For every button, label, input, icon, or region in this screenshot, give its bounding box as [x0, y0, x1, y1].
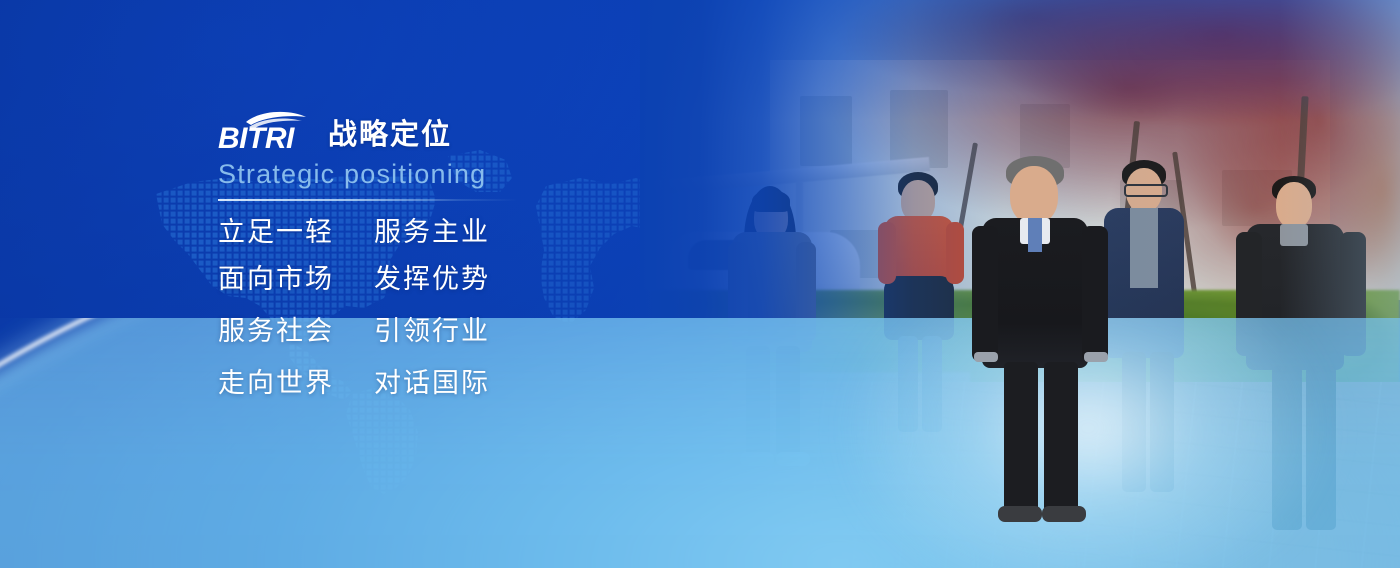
slogan-right: 引领行业 [374, 318, 508, 345]
slogan-right: 发挥优势 [374, 266, 508, 293]
slogan-row: 立足一轻 服务主业 [218, 219, 758, 246]
slogan-list: 立足一轻 服务主业 面向市场 发挥优势 服务社会 引领行业 走向世界 对话国际 [218, 219, 758, 397]
slogan-row: 走向世界 对话国际 [218, 370, 758, 397]
brand-subtitle-en: Strategic positioning [218, 160, 758, 190]
slogan-left: 面向市场 [218, 266, 352, 293]
banner-content: BITRI 战略定位 Strategic positioning 立足一轻 服务… [218, 108, 758, 417]
brand-title-cn: 战略定位 [328, 121, 452, 150]
slogan-left: 服务社会 [218, 318, 352, 345]
slogan-left: 立足一轻 [218, 219, 352, 246]
slogan-left: 走向世界 [218, 370, 352, 397]
brand-row: BITRI 战略定位 [218, 108, 758, 152]
title-divider [218, 199, 518, 201]
svg-text:BITRI: BITRI [218, 122, 295, 152]
slogan-row: 面向市场 发挥优势 [218, 266, 758, 293]
bitri-logo: BITRI [218, 110, 314, 152]
slogan-right: 服务主业 [374, 219, 508, 246]
slogan-right: 对话国际 [374, 370, 508, 397]
strategic-positioning-banner: BITRI 战略定位 Strategic positioning 立足一轻 服务… [0, 0, 1400, 568]
slogan-row: 服务社会 引领行业 [218, 318, 758, 345]
